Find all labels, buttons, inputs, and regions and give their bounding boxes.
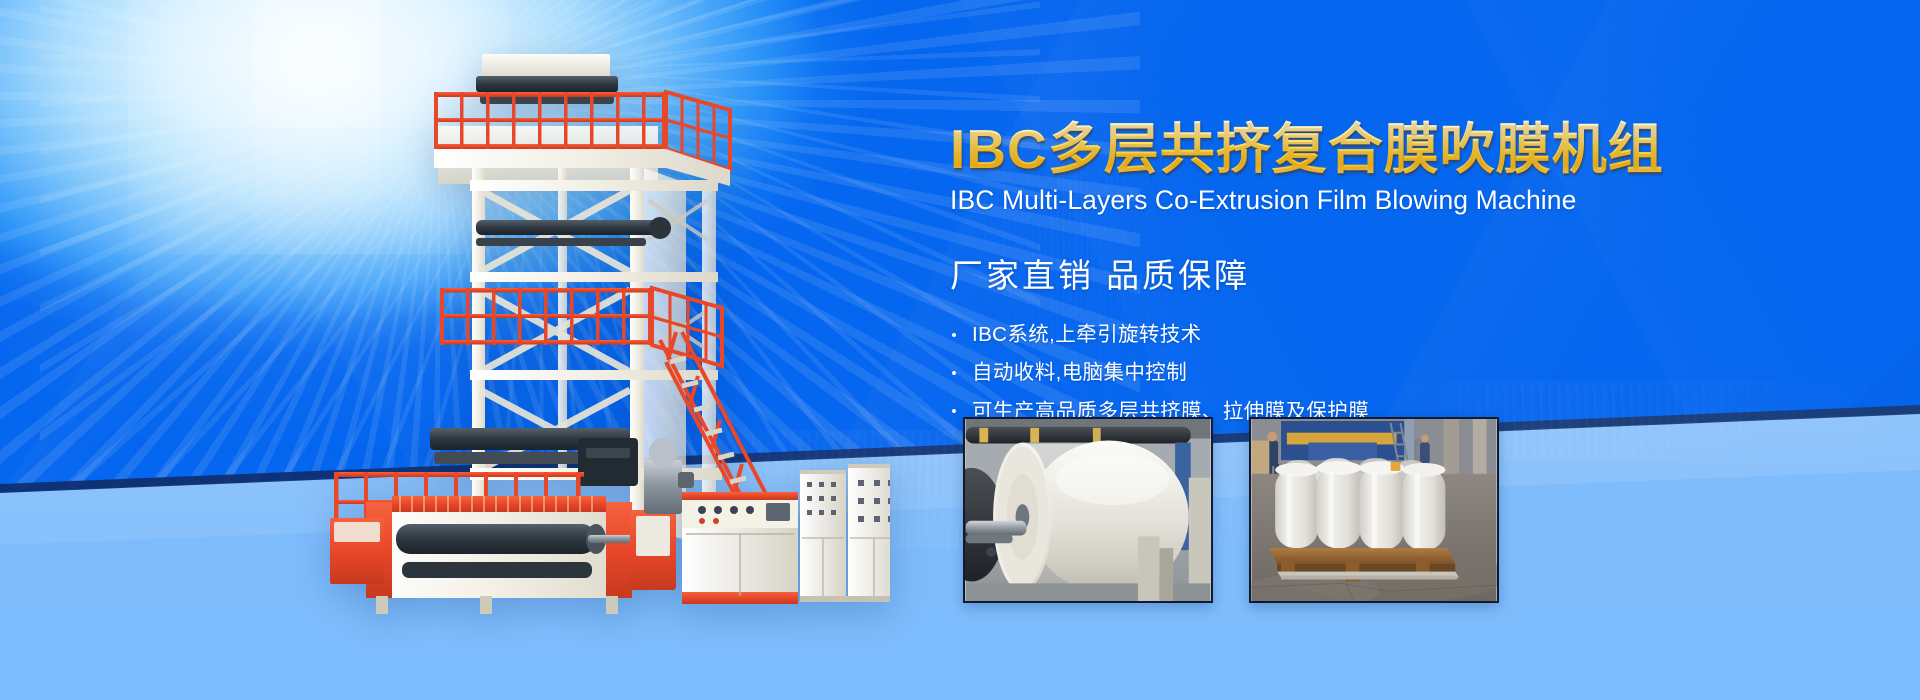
page-title: IBC多层共挤复合膜吹膜机组 [950, 120, 1770, 178]
product-banner: IBC多层共挤复合膜吹膜机组 IBC Multi-Layers Co-Extru… [0, 0, 1920, 700]
winder-unit [330, 496, 634, 614]
top-platform-railing [434, 54, 730, 186]
bullet-dot-icon [952, 333, 956, 337]
photo-film-roll-on-winder [963, 417, 1213, 603]
product-photo-strip [963, 417, 1499, 603]
list-item: 自动收料,电脑集中控制 [950, 357, 1770, 388]
tagline: 厂家直销 品质保障 [950, 249, 1770, 297]
electrical-cabinet [800, 464, 890, 602]
feature-label: 自动收料,电脑集中控制 [972, 361, 1187, 384]
operator-control-panel [682, 492, 798, 604]
subtitle-english: IBC Multi-Layers Co-Extrusion Film Blowi… [950, 185, 1770, 216]
photo-stacked-film-rolls-pallet [1249, 417, 1499, 603]
bullet-dot-icon [952, 409, 956, 413]
film-blowing-machine-image [330, 40, 890, 640]
upper-nip-roller-assembly [476, 217, 671, 246]
feature-list: IBC系统,上牵引旋转技术 自动收料,电脑集中控制 可生产高品质多层共挤膜、拉伸… [950, 319, 1770, 426]
bullet-dot-icon [952, 371, 956, 375]
feature-label: IBC系统,上牵引旋转技术 [972, 323, 1202, 346]
banner-copy: IBC多层共挤复合膜吹膜机组 IBC Multi-Layers Co-Extru… [950, 120, 1770, 434]
list-item: IBC系统,上牵引旋转技术 [950, 319, 1770, 350]
wooden-pallet [1269, 548, 1459, 581]
